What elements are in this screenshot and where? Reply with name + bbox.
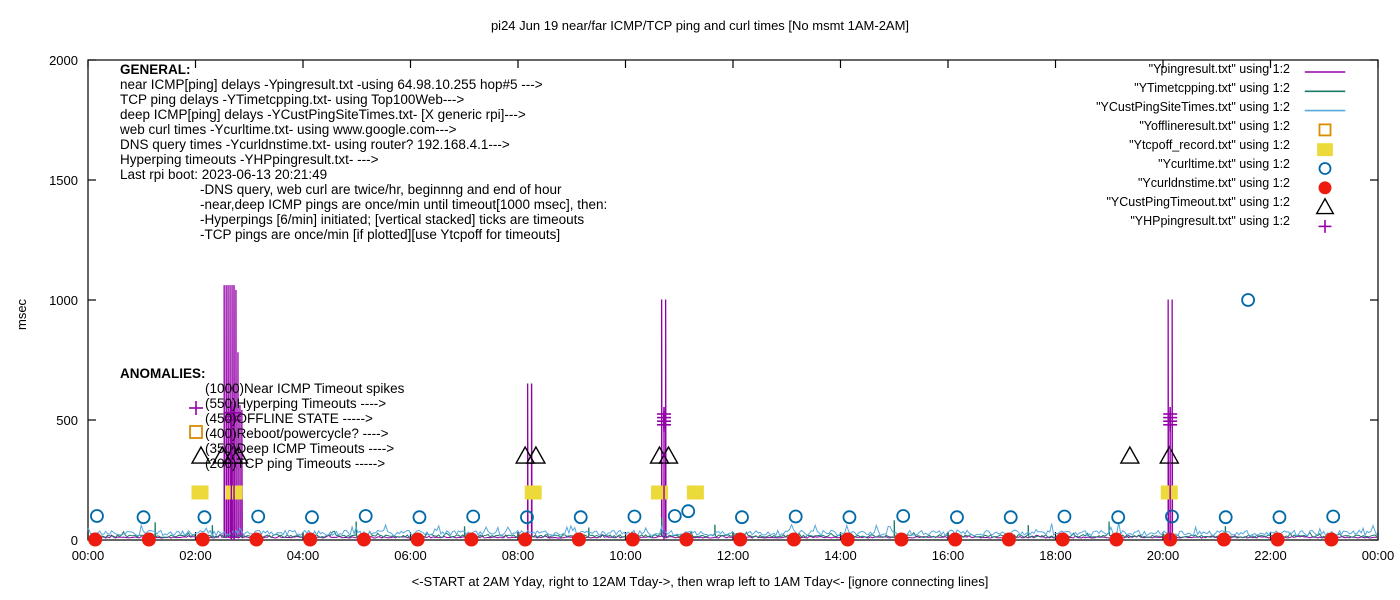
x-tick-label: 00:00 bbox=[1362, 548, 1395, 563]
anomaly-item: (550)Hyperping Timeouts ----> bbox=[205, 396, 404, 411]
x-tick-label: 14:00 bbox=[824, 548, 857, 563]
general-line: deep ICMP[ping] delays -YCustPingSiteTim… bbox=[120, 107, 607, 122]
general-notes: -DNS query, web curl are twice/hr, begin… bbox=[200, 182, 607, 242]
legend-key bbox=[1317, 199, 1334, 214]
marker-open-circle bbox=[897, 510, 909, 522]
x-tick-label: 10:00 bbox=[609, 548, 642, 563]
marker-open-circle bbox=[306, 511, 318, 523]
marker-open-circle bbox=[682, 505, 694, 517]
general-heading: GENERAL: bbox=[120, 62, 607, 77]
x-tick-label: 18:00 bbox=[1039, 548, 1072, 563]
y-tick-label: 0 bbox=[71, 533, 78, 548]
general-annotation-block: GENERAL: near ICMP[ping] delays -Ypingre… bbox=[120, 62, 607, 242]
general-note: -near,deep ICMP pings are once/min until… bbox=[200, 197, 607, 212]
general-lines: near ICMP[ping] delays -Ypingresult.txt … bbox=[120, 77, 607, 182]
anomaly-item: (450)OFFLINE STATE -----> bbox=[205, 411, 404, 426]
marker-open-circle bbox=[1319, 163, 1330, 174]
legend-entry: "YTimetcpping.txt" using 1:2 bbox=[1040, 79, 1290, 98]
anomaly-items: (1000)Near ICMP Timeout spikes(550)Hyper… bbox=[205, 381, 404, 471]
marker-filled-circle bbox=[895, 533, 908, 546]
x-tick-label: 16:00 bbox=[932, 548, 965, 563]
marker-filled-circle bbox=[142, 533, 155, 546]
marker-filled-circle bbox=[841, 533, 854, 546]
x-tick-label: 12:00 bbox=[717, 548, 750, 563]
chart-page: pi24 Jun 19 near/far ICMP/TCP ping and c… bbox=[0, 0, 1400, 600]
marker-open-circle bbox=[628, 510, 640, 522]
marker-filled-circle bbox=[1110, 533, 1123, 546]
y-tick-label: 1500 bbox=[49, 173, 78, 188]
marker-open-circle bbox=[1058, 510, 1070, 522]
y-tick-label: 500 bbox=[56, 413, 78, 428]
general-line: near ICMP[ping] delays -Ypingresult.txt … bbox=[120, 77, 607, 92]
marker-open-circle bbox=[1220, 511, 1232, 523]
marker-filled-circle bbox=[572, 533, 585, 546]
anomaly-item: (350)Deep ICMP Timeouts ----> bbox=[205, 441, 404, 456]
x-tick-label: 04:00 bbox=[287, 548, 320, 563]
legend-key bbox=[1319, 163, 1330, 174]
anomaly-item: (400)Reboot/powercycle? ----> bbox=[205, 426, 404, 441]
anomaly-item: (200)TCP ping Timeouts -----> bbox=[205, 456, 404, 471]
marker-open-circle bbox=[1327, 510, 1339, 522]
marker-open-circle bbox=[413, 511, 425, 523]
x-tick-label: 08:00 bbox=[502, 548, 535, 563]
general-line: TCP ping delays -YTimetcpping.txt- using… bbox=[120, 92, 607, 107]
marker-open-circle bbox=[669, 510, 681, 522]
marker-filled-circle bbox=[1325, 533, 1338, 546]
x-tick-label: 00:00 bbox=[72, 548, 105, 563]
marker-open-circle bbox=[138, 511, 150, 523]
x-tick-label: 06:00 bbox=[394, 548, 427, 563]
marker-open-circle bbox=[1112, 511, 1124, 523]
legend-entry: "Ycurltime.txt" using 1:2 bbox=[1040, 155, 1290, 174]
marker-open-circle bbox=[736, 511, 748, 523]
marker-filled-square bbox=[192, 486, 208, 499]
general-note: -DNS query, web curl are twice/hr, begin… bbox=[200, 182, 607, 197]
x-tick-label: 02:00 bbox=[179, 548, 212, 563]
general-line: DNS query times -Ycurldnstime.txt- using… bbox=[120, 137, 607, 152]
legend-entry: "YCustPingSiteTimes.txt" using 1:2 bbox=[1040, 98, 1290, 117]
legend-key-symbols bbox=[1292, 60, 1362, 240]
general-line: web curl times -Ycurltime.txt- using www… bbox=[120, 122, 607, 137]
marker-filled-circle bbox=[1271, 533, 1284, 546]
marker-filled-square bbox=[1161, 486, 1177, 499]
marker-open-circle bbox=[951, 511, 963, 523]
marker-filled-circle bbox=[787, 533, 800, 546]
marker-filled-circle bbox=[680, 533, 693, 546]
legend-key bbox=[1319, 182, 1331, 194]
marker-open-circle bbox=[360, 510, 372, 522]
general-note: -Hyperpings [6/min] initiated; [vertical… bbox=[200, 212, 607, 227]
marker-filled-square bbox=[687, 486, 703, 499]
x-tick-label: 20:00 bbox=[1147, 548, 1180, 563]
marker-open-circle bbox=[1273, 511, 1285, 523]
marker-filled-circle bbox=[949, 533, 962, 546]
anomalies-heading: ANOMALIES: bbox=[120, 366, 404, 381]
legend-entry: "YHPpingresult.txt" using 1:2 bbox=[1040, 212, 1290, 231]
legend-entry: "Ytcpoff_record.txt" using 1:2 bbox=[1040, 136, 1290, 155]
marker-filled-circle bbox=[357, 533, 370, 546]
marker-filled-square bbox=[652, 486, 668, 499]
marker-filled-circle bbox=[250, 533, 263, 546]
general-line: Last rpi boot: 2023-06-13 20:21:49 bbox=[120, 167, 607, 182]
legend-key bbox=[1318, 144, 1333, 156]
marker-filled-circle bbox=[626, 533, 639, 546]
y-tick-label: 2000 bbox=[49, 53, 78, 68]
series-points-Ytcpoff_record.txt bbox=[226, 486, 1177, 499]
marker-filled-circle bbox=[304, 533, 317, 546]
legend-entry: "Yofflineresult.txt" using 1:2 bbox=[1040, 117, 1290, 136]
legend-key bbox=[1319, 124, 1330, 135]
legend-key bbox=[1319, 220, 1332, 233]
marker-filled-circle bbox=[734, 533, 747, 546]
marker-filled-circle bbox=[89, 533, 102, 546]
y-tick-label: 1000 bbox=[49, 293, 78, 308]
legend-entry: "YCustPingTimeout.txt" using 1:2 bbox=[1040, 193, 1290, 212]
general-note: -TCP pings are once/min [if plotted][use… bbox=[200, 227, 607, 242]
marker-filled-circle bbox=[1217, 533, 1230, 546]
marker-open-circle bbox=[790, 510, 802, 522]
marker-open-circle bbox=[575, 511, 587, 523]
marker-filled-circle bbox=[465, 533, 478, 546]
marker-filled-circle bbox=[196, 533, 209, 546]
marker-open-square bbox=[1319, 124, 1330, 135]
marker-filled-circle bbox=[519, 533, 532, 546]
marker-triangle bbox=[1160, 447, 1178, 463]
marker-filled-circle bbox=[411, 533, 424, 546]
marker-plus bbox=[1319, 220, 1332, 233]
marker-open-circle bbox=[467, 510, 479, 522]
marker-open-circle bbox=[843, 511, 855, 523]
legend-entry: "Ypingresult.txt" using 1:2 bbox=[1040, 60, 1290, 79]
marker-filled-circle bbox=[1319, 182, 1331, 194]
marker-open-circle bbox=[198, 511, 210, 523]
legend: "Ypingresult.txt" using 1:2"YTimetcpping… bbox=[1040, 60, 1290, 231]
general-line: Hyperping timeouts -YHPpingresult.txt- -… bbox=[120, 152, 607, 167]
anomalies-annotation-block: ANOMALIES: (1000)Near ICMP Timeout spike… bbox=[120, 366, 404, 471]
marker-triangle bbox=[1121, 447, 1139, 463]
marker-open-circle bbox=[252, 510, 264, 522]
marker-filled-square bbox=[1318, 144, 1333, 156]
x-tick-label: 22:00 bbox=[1254, 548, 1287, 563]
marker-open-circle bbox=[1242, 294, 1254, 306]
marker-triangle bbox=[1317, 199, 1334, 214]
marker-filled-circle bbox=[1056, 533, 1069, 546]
marker-filled-square bbox=[525, 486, 541, 499]
marker-open-circle bbox=[1005, 511, 1017, 523]
legend-entry: "Ycurldnstime.txt" using 1:2 bbox=[1040, 174, 1290, 193]
marker-filled-circle bbox=[1002, 533, 1015, 546]
marker-open-circle bbox=[91, 510, 103, 522]
anomaly-item: (1000)Near ICMP Timeout spikes bbox=[205, 381, 404, 396]
